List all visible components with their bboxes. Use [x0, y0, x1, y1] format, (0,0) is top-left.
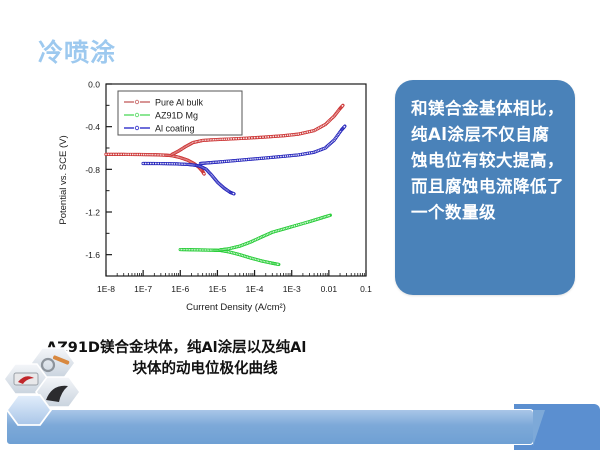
series-marker: [265, 157, 268, 160]
series-marker: [277, 156, 280, 159]
series-marker: [240, 137, 243, 140]
polarization-chart: 0.0-0.4-0.8-1.2-1.61E-81E-71E-61E-51E-41…: [48, 76, 378, 334]
series-marker: [157, 162, 160, 165]
series-marker: [280, 155, 283, 158]
x-tick-label: 1E-8: [97, 284, 115, 294]
series-marker: [275, 135, 278, 138]
series-marker: [270, 135, 273, 138]
callout-text: 和镁合金基体相比，纯Al涂层不仅自腐蚀电位有较大提高，而且腐蚀电流降低了一个数量…: [411, 96, 565, 226]
x-tick-label: 0.1: [360, 284, 372, 294]
series-marker: [112, 153, 115, 156]
series-marker: [115, 153, 118, 156]
series-marker: [147, 162, 150, 165]
legend-marker: [135, 100, 138, 103]
x-tick-label: 1E-6: [171, 284, 189, 294]
y-tick-label: -0.4: [85, 122, 100, 132]
series-marker: [117, 153, 120, 156]
legend-marker: [135, 126, 138, 129]
series-marker: [142, 162, 145, 165]
series-marker: [227, 138, 230, 141]
x-tick-label: 1E-4: [246, 284, 264, 294]
series-marker: [272, 135, 275, 138]
series-marker: [110, 153, 113, 156]
series-marker: [277, 135, 280, 138]
legend-marker: [135, 113, 138, 116]
series-marker: [245, 137, 248, 140]
series-marker: [149, 162, 152, 165]
y-tick-label: -1.6: [85, 250, 100, 260]
y-tick-label: -0.8: [85, 165, 100, 175]
chart-svg: 0.0-0.4-0.8-1.2-1.61E-81E-71E-61E-51E-41…: [48, 76, 378, 334]
series-marker: [251, 137, 254, 140]
y-tick-label: -1.2: [85, 208, 100, 218]
series-marker: [265, 136, 268, 139]
empty-hex-icon: [7, 395, 51, 425]
series-marker: [267, 156, 270, 159]
x-tick-label: 1E-5: [208, 284, 226, 294]
series-marker: [272, 156, 275, 159]
y-axis-label: Potential vs. SCE (V): [58, 135, 69, 224]
series-marker: [267, 136, 270, 139]
series-marker: [203, 173, 206, 176]
series-marker: [253, 136, 256, 139]
series-marker: [232, 192, 235, 195]
x-axis-label: Current Density (A/cm²): [186, 302, 286, 313]
slide-canvas: 冷喷涂 0.0-0.4-0.8-1.2-1.61E-81E-71E-61E-51…: [0, 0, 600, 450]
series-marker: [232, 138, 235, 141]
legend-label: Al coating: [155, 123, 195, 133]
series-marker: [341, 105, 344, 108]
series-marker: [243, 137, 246, 140]
series-marker: [107, 153, 110, 156]
series-marker: [248, 137, 251, 140]
series-marker: [277, 263, 280, 266]
legend-label: AZ91D Mg: [155, 110, 198, 120]
hex-decoration: [2, 346, 114, 432]
series-marker: [237, 137, 240, 140]
page-title: 冷喷涂: [38, 33, 116, 69]
series-marker: [105, 153, 108, 156]
series-marker: [155, 162, 158, 165]
x-tick-label: 1E-3: [283, 284, 301, 294]
series-marker: [230, 138, 233, 141]
y-tick-label: 0.0: [88, 80, 100, 90]
series-marker: [259, 136, 262, 139]
series-marker: [280, 135, 283, 138]
series-marker: [275, 156, 278, 159]
series-marker: [262, 136, 265, 139]
callout-box: 和镁合金基体相比，纯Al涂层不仅自腐蚀电位有较大提高，而且腐蚀电流降低了一个数量…: [395, 80, 575, 295]
series-marker: [144, 162, 147, 165]
series-marker: [270, 156, 273, 159]
legend-label: Pure Al bulk: [155, 97, 204, 107]
x-tick-label: 0.01: [321, 284, 338, 294]
x-tick-label: 1E-7: [134, 284, 152, 294]
series-marker: [343, 125, 346, 128]
series-marker: [328, 214, 331, 217]
series-marker: [256, 136, 259, 139]
series-marker: [120, 153, 123, 156]
series-marker: [152, 162, 155, 165]
series-marker: [235, 137, 238, 140]
